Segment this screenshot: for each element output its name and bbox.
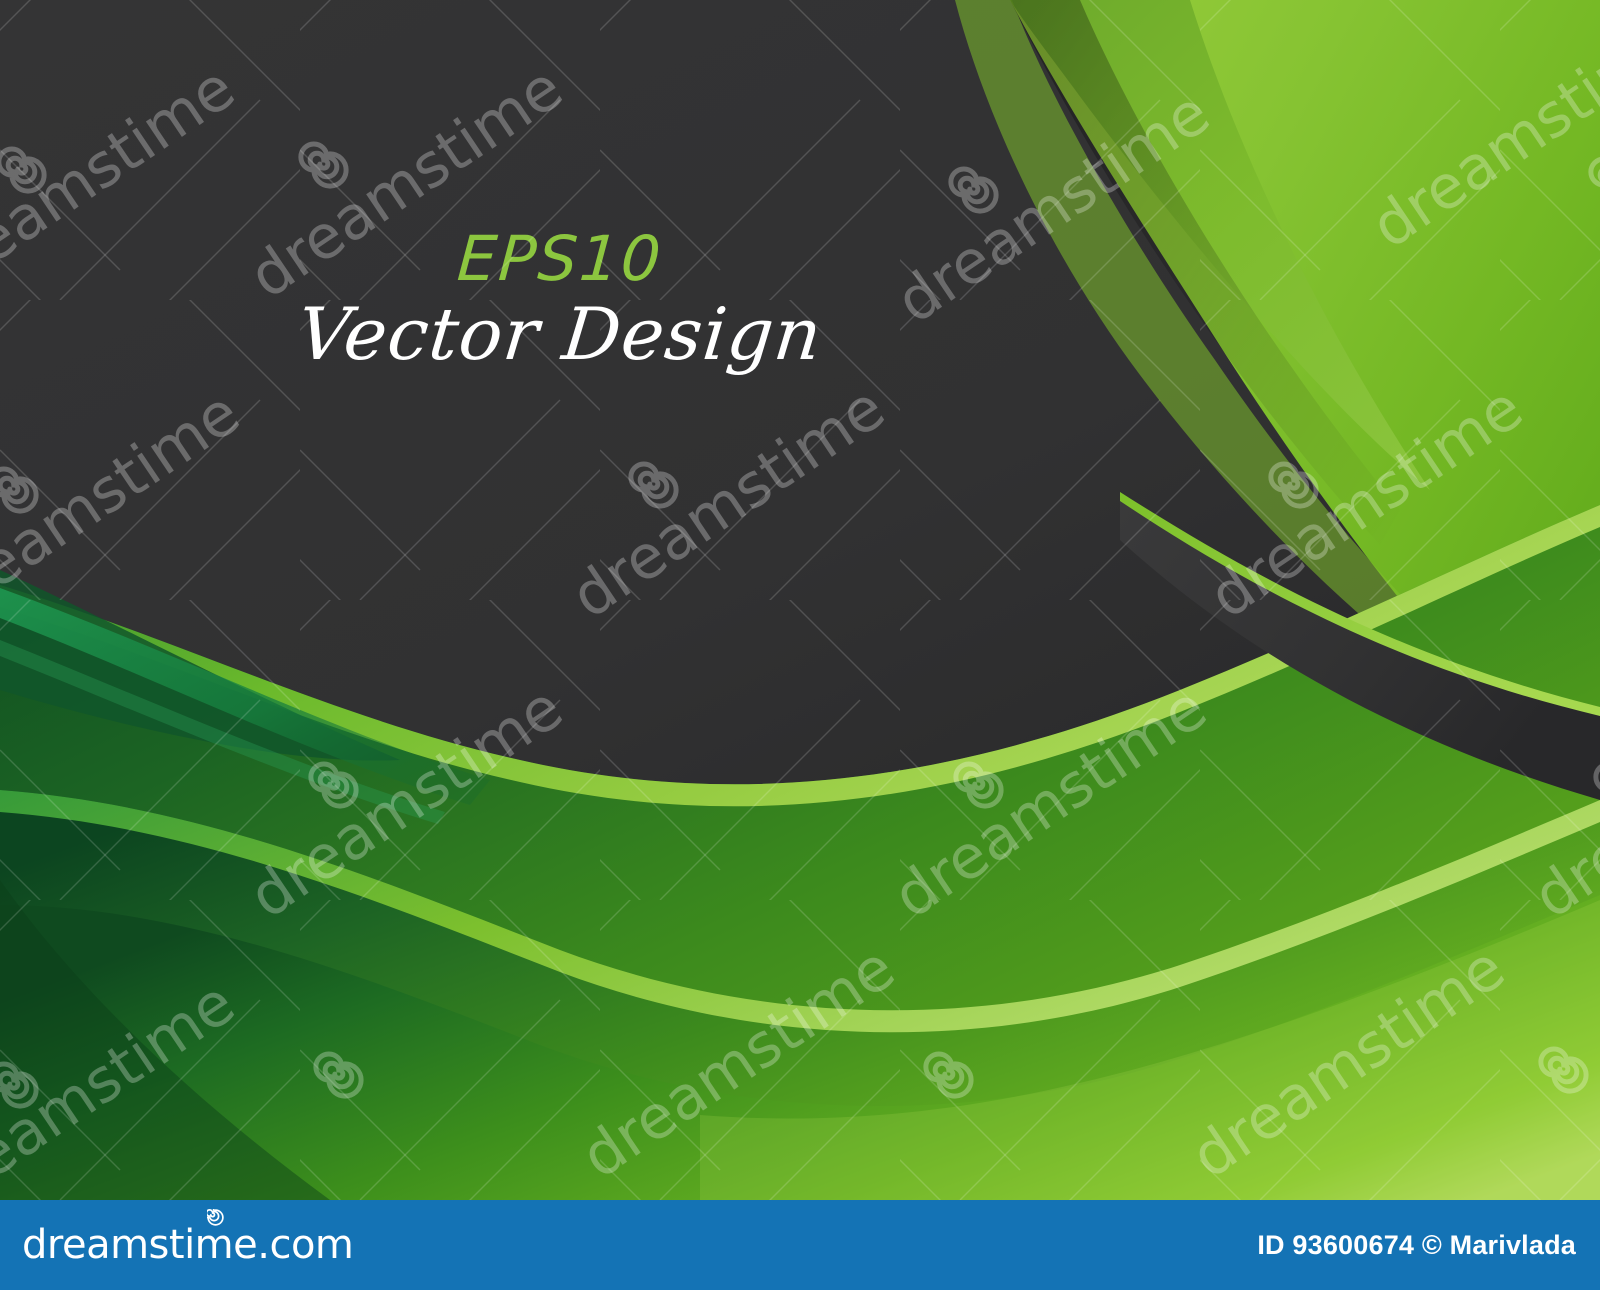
spiral-icon — [207, 1209, 224, 1226]
stock-image-artwork: EPS10 Vector Design — [0, 0, 1600, 1200]
dreamstime-logo-text: dreamstime.com — [22, 1225, 353, 1265]
right-dark-wedge-overlay — [0, 0, 1600, 1200]
dreamstime-footer-bar: dreamstime.com ID 93600674 © Marivlada — [0, 1200, 1600, 1290]
image-credit: ID 93600674 © Marivlada — [1257, 1230, 1576, 1261]
screenshot-root: EPS10 Vector Design — [0, 0, 1600, 1290]
dreamstime-logo[interactable]: dreamstime.com — [22, 1225, 353, 1265]
